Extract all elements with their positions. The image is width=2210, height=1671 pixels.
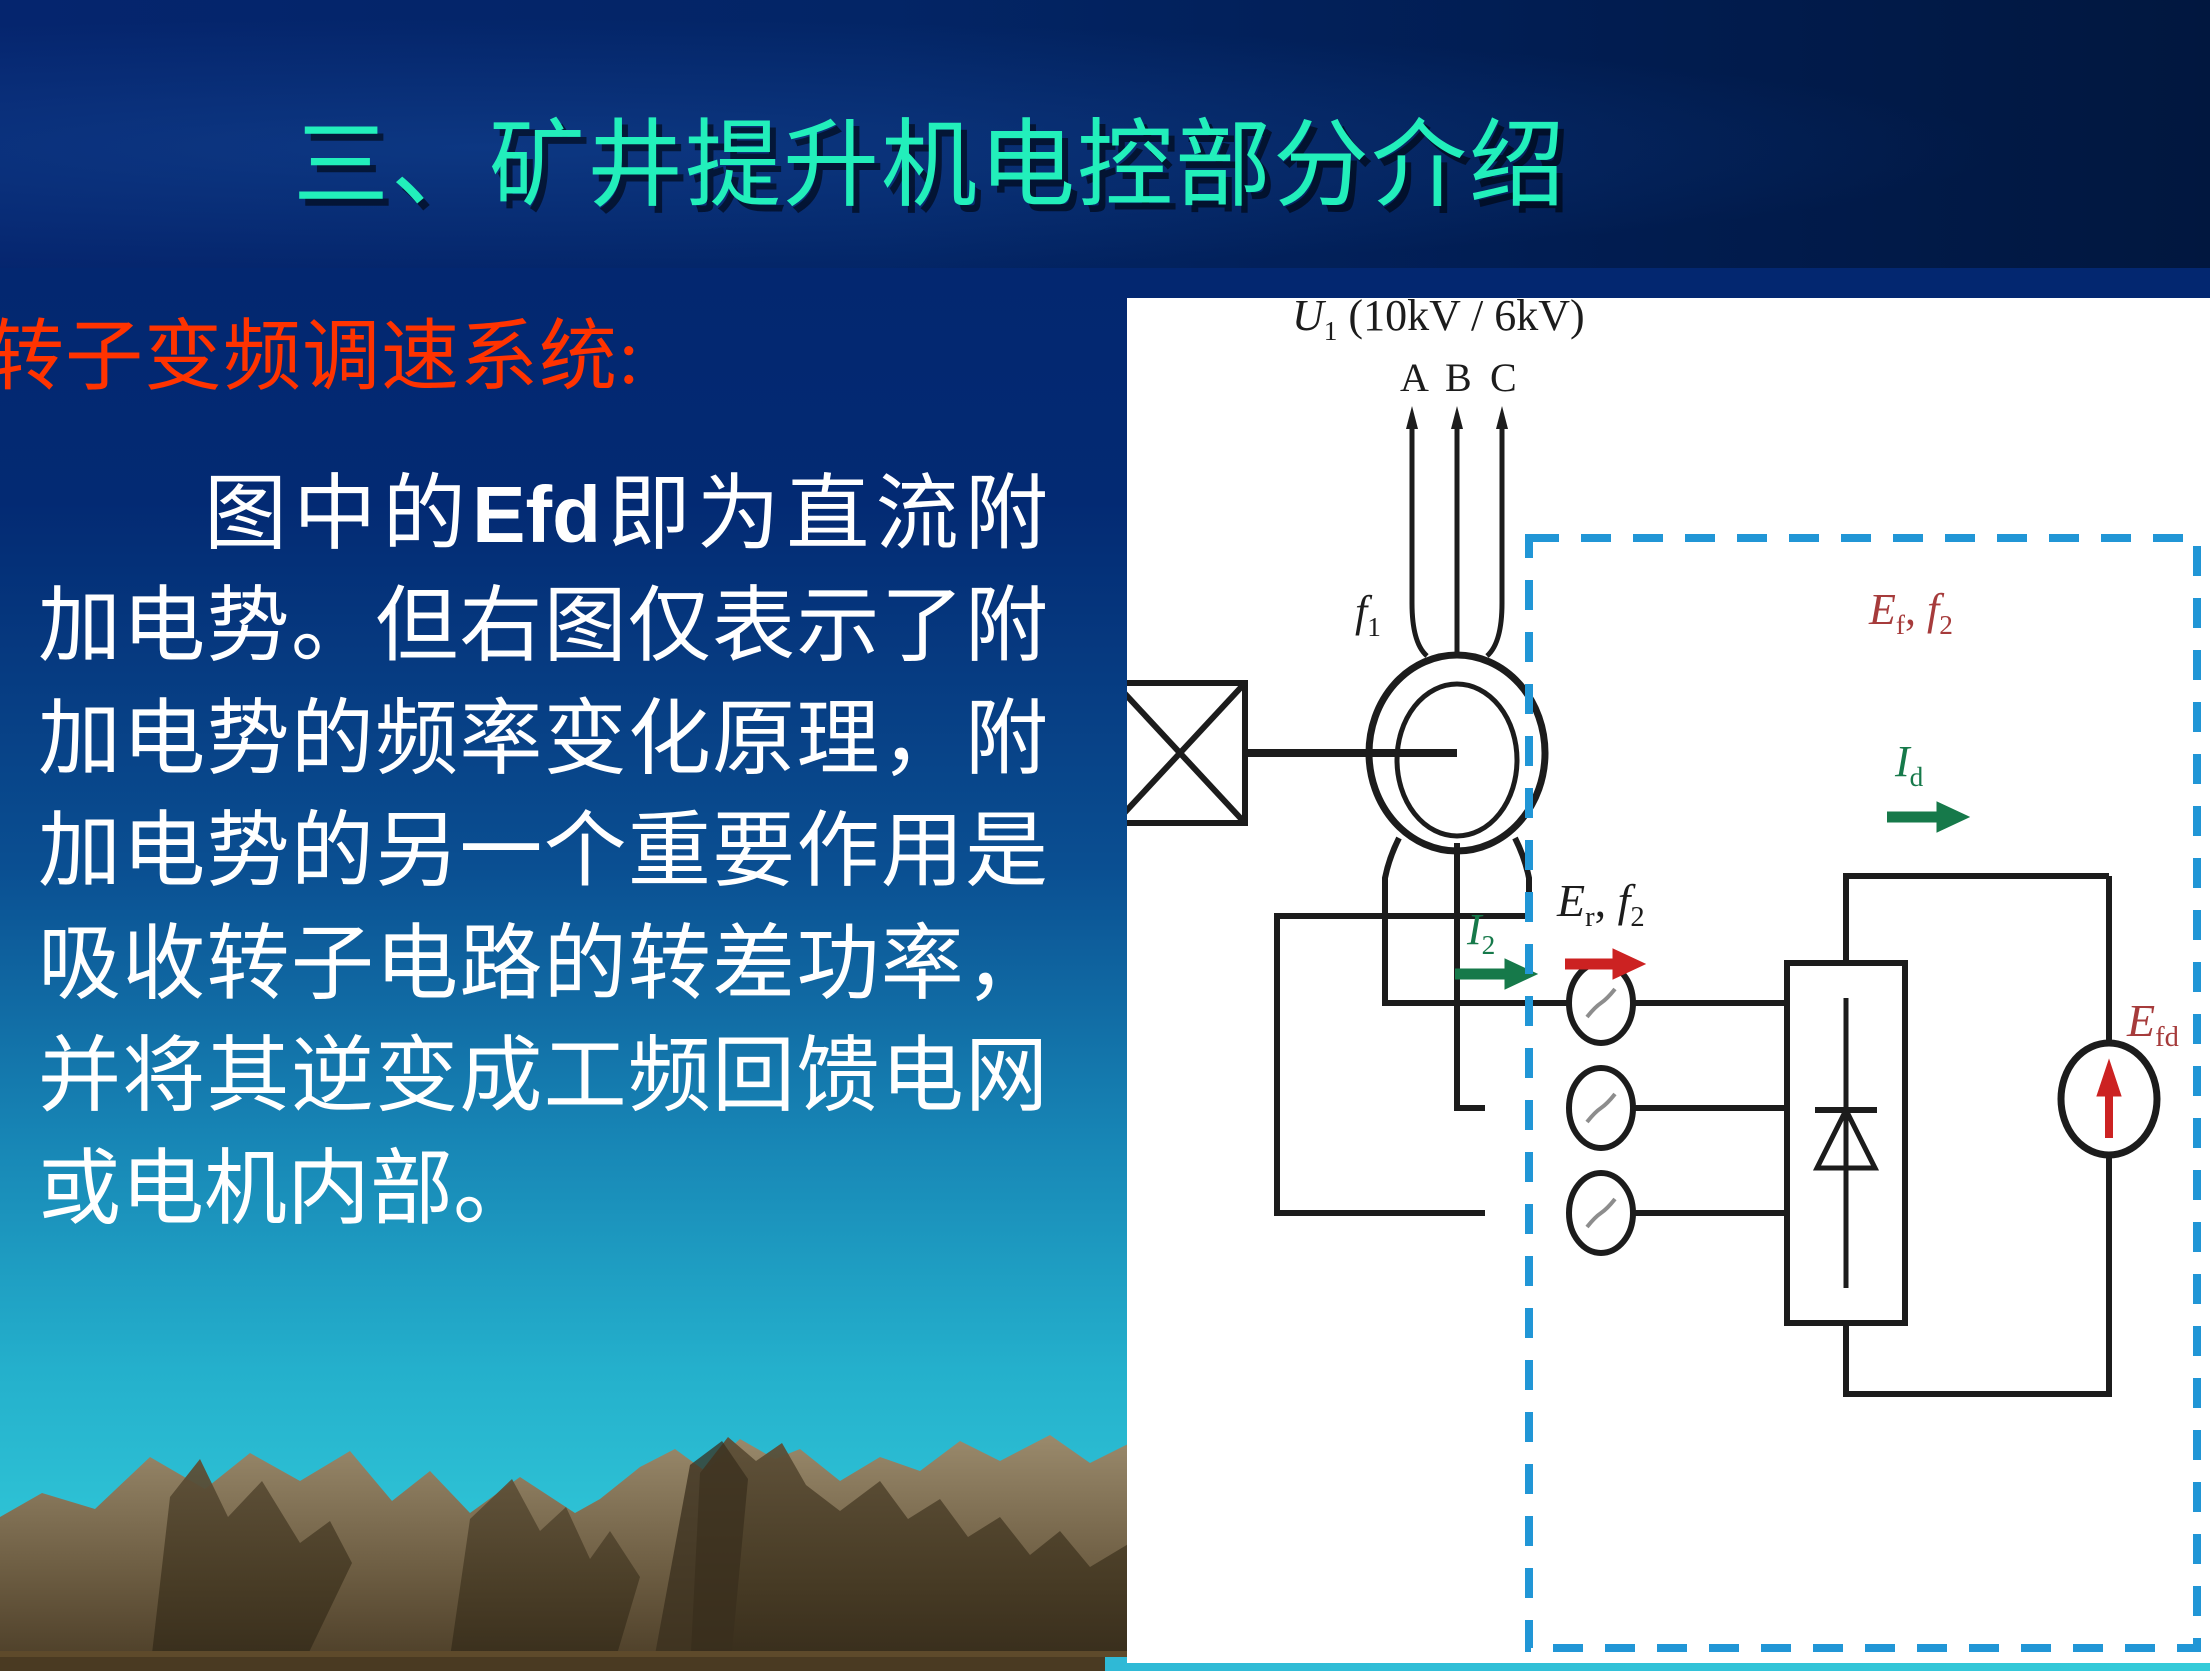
thyristor-symbol bbox=[1815, 998, 1877, 1288]
supply-voltage-value: (10kV / 6kV) bbox=[1348, 291, 1584, 340]
mountain-decoration bbox=[0, 1331, 1130, 1671]
dc-current-subscript: d bbox=[1910, 762, 1924, 792]
slide-root: 三、矿井提升机电控部分介绍 转子变频调速系统: 图中的Efd即为直流附加电势。但… bbox=[0, 0, 2210, 1671]
rotor-emf-comma: , bbox=[1595, 875, 1618, 926]
field-emf-label: Ef, f2 bbox=[1869, 588, 1953, 639]
body-text-part2: 即为直流附加电势。但右图仅表示了附加电势的频率变化原理，附加电势的另一个重要作用… bbox=[38, 468, 1048, 1235]
supply-voltage-symbol: U bbox=[1292, 291, 1324, 340]
phase-b-label: B bbox=[1445, 358, 1472, 398]
body-text-latin: Efd bbox=[472, 470, 601, 559]
field-emf-symbol: E bbox=[1869, 585, 1896, 634]
dc-current-label: Id bbox=[1895, 740, 1923, 791]
section-subtitle: 转子变频调速系统: bbox=[0, 318, 641, 396]
rotor-current-subscript: 2 bbox=[1482, 930, 1496, 960]
stator-frequency-subscript: 1 bbox=[1367, 612, 1381, 642]
rotor-emf-symbol: E bbox=[1557, 875, 1585, 926]
phase-a-label: A bbox=[1400, 358, 1429, 398]
rotor-frequency-subscript: 2 bbox=[1630, 902, 1644, 933]
phase-c-label: C bbox=[1490, 358, 1517, 398]
added-emf-symbol: E bbox=[2127, 995, 2155, 1046]
converter-input-wires bbox=[1633, 1003, 1787, 1213]
supply-voltage-label: U1 (10kV / 6kV) bbox=[1292, 294, 1585, 345]
page-title: 三、矿井提升机电控部分介绍 bbox=[0, 118, 1860, 214]
field-emf-subscript: f bbox=[1896, 610, 1905, 640]
circuit-diagram-panel: U1 (10kV / 6kV) A B C f1 Ef, f2 Id I2 Er… bbox=[1127, 298, 2210, 1663]
added-emf-label: Efd bbox=[2127, 998, 2179, 1053]
rotor-current-symbol: I bbox=[1467, 905, 1482, 954]
dc-current-arrow-icon bbox=[1887, 802, 1969, 832]
field-frequency-symbol: f bbox=[1927, 585, 1939, 634]
rotor-current-arrow-icon bbox=[1455, 959, 1537, 989]
stator-frequency-label: f1 bbox=[1355, 590, 1381, 641]
circuit-diagram-svg bbox=[1127, 298, 2210, 1663]
dc-current-symbol: I bbox=[1895, 737, 1910, 786]
field-frequency-subscript: 2 bbox=[1939, 610, 1953, 640]
three-phase-supply-lines bbox=[1412, 423, 1502, 658]
load-drum-symbol bbox=[1127, 683, 1245, 823]
body-paragraph: 图中的Efd即为直流附加电势。但右图仅表示了附加电势的频率变化原理，附加电势的另… bbox=[38, 458, 1048, 1245]
supply-arrowheads bbox=[1406, 406, 1508, 429]
field-emf-comma: , bbox=[1905, 585, 1927, 634]
rotor-current-label: I2 bbox=[1467, 908, 1495, 959]
supply-voltage-subscript: 1 bbox=[1324, 316, 1338, 346]
rotor-frequency-symbol: f bbox=[1618, 875, 1631, 926]
added-emf-subscript: fd bbox=[2155, 1022, 2179, 1053]
stator-frequency-symbol: f bbox=[1355, 587, 1367, 636]
body-text-part1: 图中的 bbox=[204, 468, 472, 560]
rotor-emf-label: Er, f2 bbox=[1557, 878, 1645, 933]
rotor-emf-subscript: r bbox=[1585, 902, 1595, 933]
